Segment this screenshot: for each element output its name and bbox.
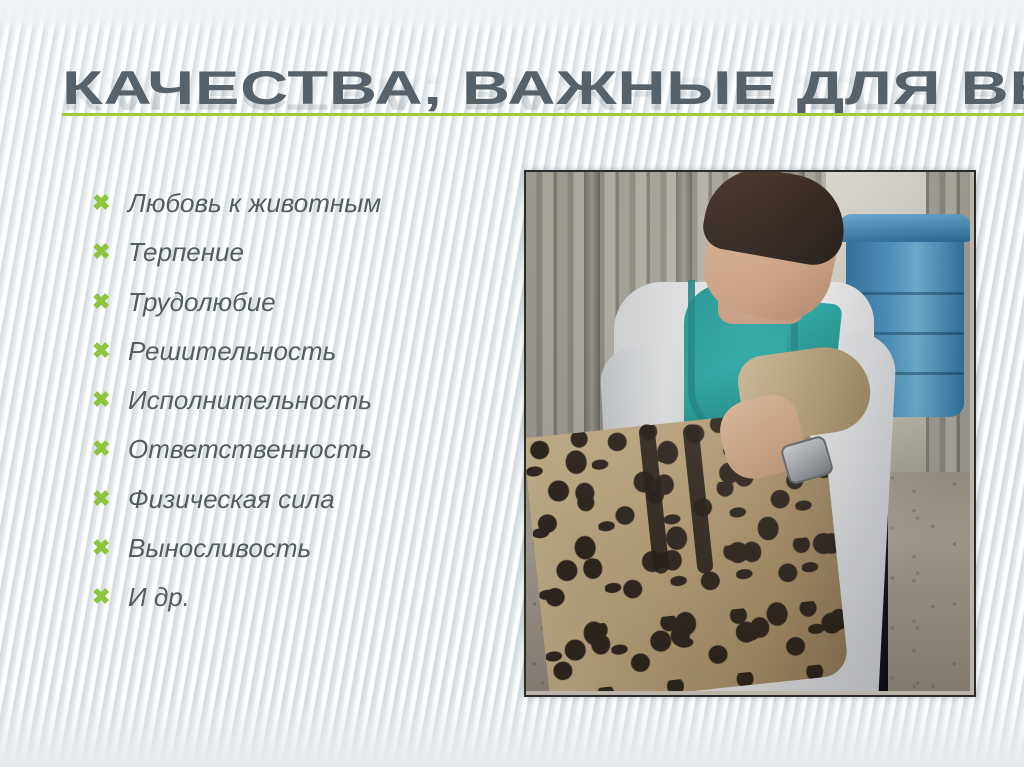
- background-bottom-shade: [0, 697, 1024, 767]
- qualities-bullet-list: ✖ Любовь к животным ✖ Терпение ✖ Трудолю…: [92, 186, 512, 630]
- list-item: ✖ Решительность: [92, 334, 512, 383]
- presentation-slide: КАЧЕСТВА, ВАЖНЫЕ ДЛЯ ВЕТЕРИНАРА КАЧЕСТВА…: [0, 0, 1024, 767]
- page-title: КАЧЕСТВА, ВАЖНЫЕ ДЛЯ ВЕТЕРИНАРА: [62, 62, 1024, 114]
- cross-bullet-icon: ✖: [92, 334, 128, 368]
- list-item-label: Любовь к животным: [128, 186, 381, 220]
- list-item: ✖ Трудолюбие: [92, 285, 512, 334]
- cross-bullet-icon: ✖: [92, 482, 128, 516]
- veterinarian-photo: [524, 170, 976, 697]
- list-item: ✖ Ответственность: [92, 432, 512, 481]
- photo-trash-bin-lid: [838, 214, 970, 242]
- list-item-label: Трудолюбие: [128, 285, 276, 319]
- cross-bullet-icon: ✖: [92, 432, 128, 466]
- list-item-label: Ответственность: [128, 432, 372, 466]
- list-item-label: Решительность: [128, 334, 336, 368]
- list-item: ✖ И др.: [92, 580, 512, 629]
- cross-bullet-icon: ✖: [92, 383, 128, 417]
- background-top-highlight: [0, 0, 1024, 34]
- cross-bullet-icon: ✖: [92, 235, 128, 269]
- cross-bullet-icon: ✖: [92, 531, 128, 565]
- list-item: ✖ Физическая сила: [92, 482, 512, 531]
- list-item: ✖ Выносливость: [92, 531, 512, 580]
- list-item: ✖ Исполнительность: [92, 383, 512, 432]
- list-item-label: Физическая сила: [128, 482, 335, 516]
- list-item-label: Исполнительность: [128, 383, 372, 417]
- cross-bullet-icon: ✖: [92, 285, 128, 319]
- list-item-label: Выносливость: [128, 531, 311, 565]
- cross-bullet-icon: ✖: [92, 580, 128, 614]
- list-item-label: И др.: [128, 580, 190, 614]
- list-item: ✖ Любовь к животным: [92, 186, 512, 235]
- photo-content: [526, 172, 970, 691]
- cross-bullet-icon: ✖: [92, 186, 128, 220]
- title-underline-rule: [62, 113, 1024, 116]
- list-item: ✖ Терпение: [92, 235, 512, 284]
- slide-title-block: КАЧЕСТВА, ВАЖНЫЕ ДЛЯ ВЕТЕРИНАРА КАЧЕСТВА…: [0, 62, 1024, 154]
- list-item-label: Терпение: [128, 235, 244, 269]
